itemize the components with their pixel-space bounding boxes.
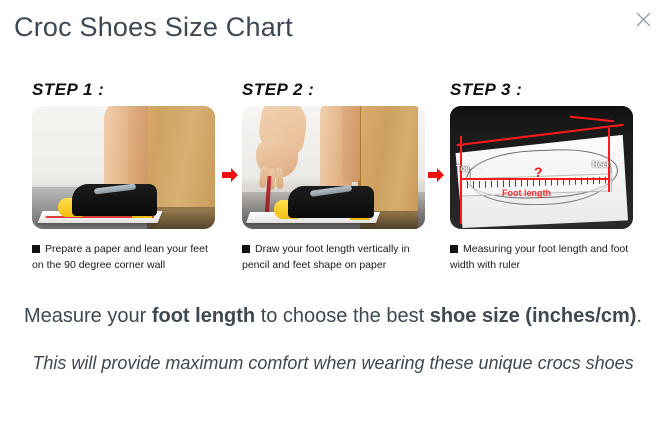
toe-label: Toe — [456, 164, 470, 173]
bullet-square-icon — [450, 245, 458, 253]
measure-instruction: Measure your foot length to choose the b… — [0, 305, 666, 328]
step-3-caption: Measuring your foot length and foot widt… — [450, 241, 636, 273]
step-1-label: STEP 1 : — [32, 78, 225, 106]
step-1-caption-text: Prepare a paper and lean your feet on th… — [32, 243, 208, 271]
step-1-photo — [32, 106, 215, 229]
measure-bold-foot-length: foot length — [152, 305, 255, 327]
measure-text-part3: . — [636, 305, 642, 327]
comfort-note: This will provide maximum comfort when w… — [0, 348, 666, 378]
step-2-label: STEP 2 : — [242, 78, 435, 106]
question-mark-label: ? — [534, 164, 543, 180]
step-3-photo: Toe Heel ? Foot length — [450, 106, 633, 229]
step-1-column: STEP 1 : Prepare a paper and lean your f… — [32, 78, 225, 273]
steps-row: STEP 1 : Prepare a paper and lean your f… — [0, 78, 666, 293]
step-3-caption-text: Measuring your foot length and foot widt… — [450, 243, 628, 271]
close-icon — [635, 11, 652, 28]
flow-arrow-icon-1 — [222, 168, 238, 182]
step-2-photo — [242, 106, 425, 229]
step-1-caption: Prepare a paper and lean your feet on th… — [32, 241, 218, 273]
bullet-square-icon — [32, 245, 40, 253]
measure-text-part1: Measure your — [24, 305, 152, 327]
page-title: Croc Shoes Size Chart — [14, 12, 293, 43]
step-3-label: STEP 3 : — [450, 78, 643, 106]
heel-label: Heel — [592, 160, 609, 169]
bullet-square-icon — [242, 245, 250, 253]
close-button[interactable] — [628, 4, 658, 34]
measure-bold-shoe-size: shoe size (inches/cm) — [430, 305, 637, 327]
step-2-caption: Draw your foot length vertically in penc… — [242, 241, 428, 273]
step-2-caption-text: Draw your foot length vertically in penc… — [242, 243, 410, 271]
foot-length-label: Foot length — [502, 188, 551, 198]
measure-text-part2: to choose the best — [255, 305, 430, 327]
step-2-column: STEP 2 : Draw your foot length verticall… — [242, 78, 435, 273]
flow-arrow-icon-2 — [428, 168, 444, 182]
step-3-column: STEP 3 : Toe Heel ? Foot length Measurin… — [450, 78, 643, 273]
